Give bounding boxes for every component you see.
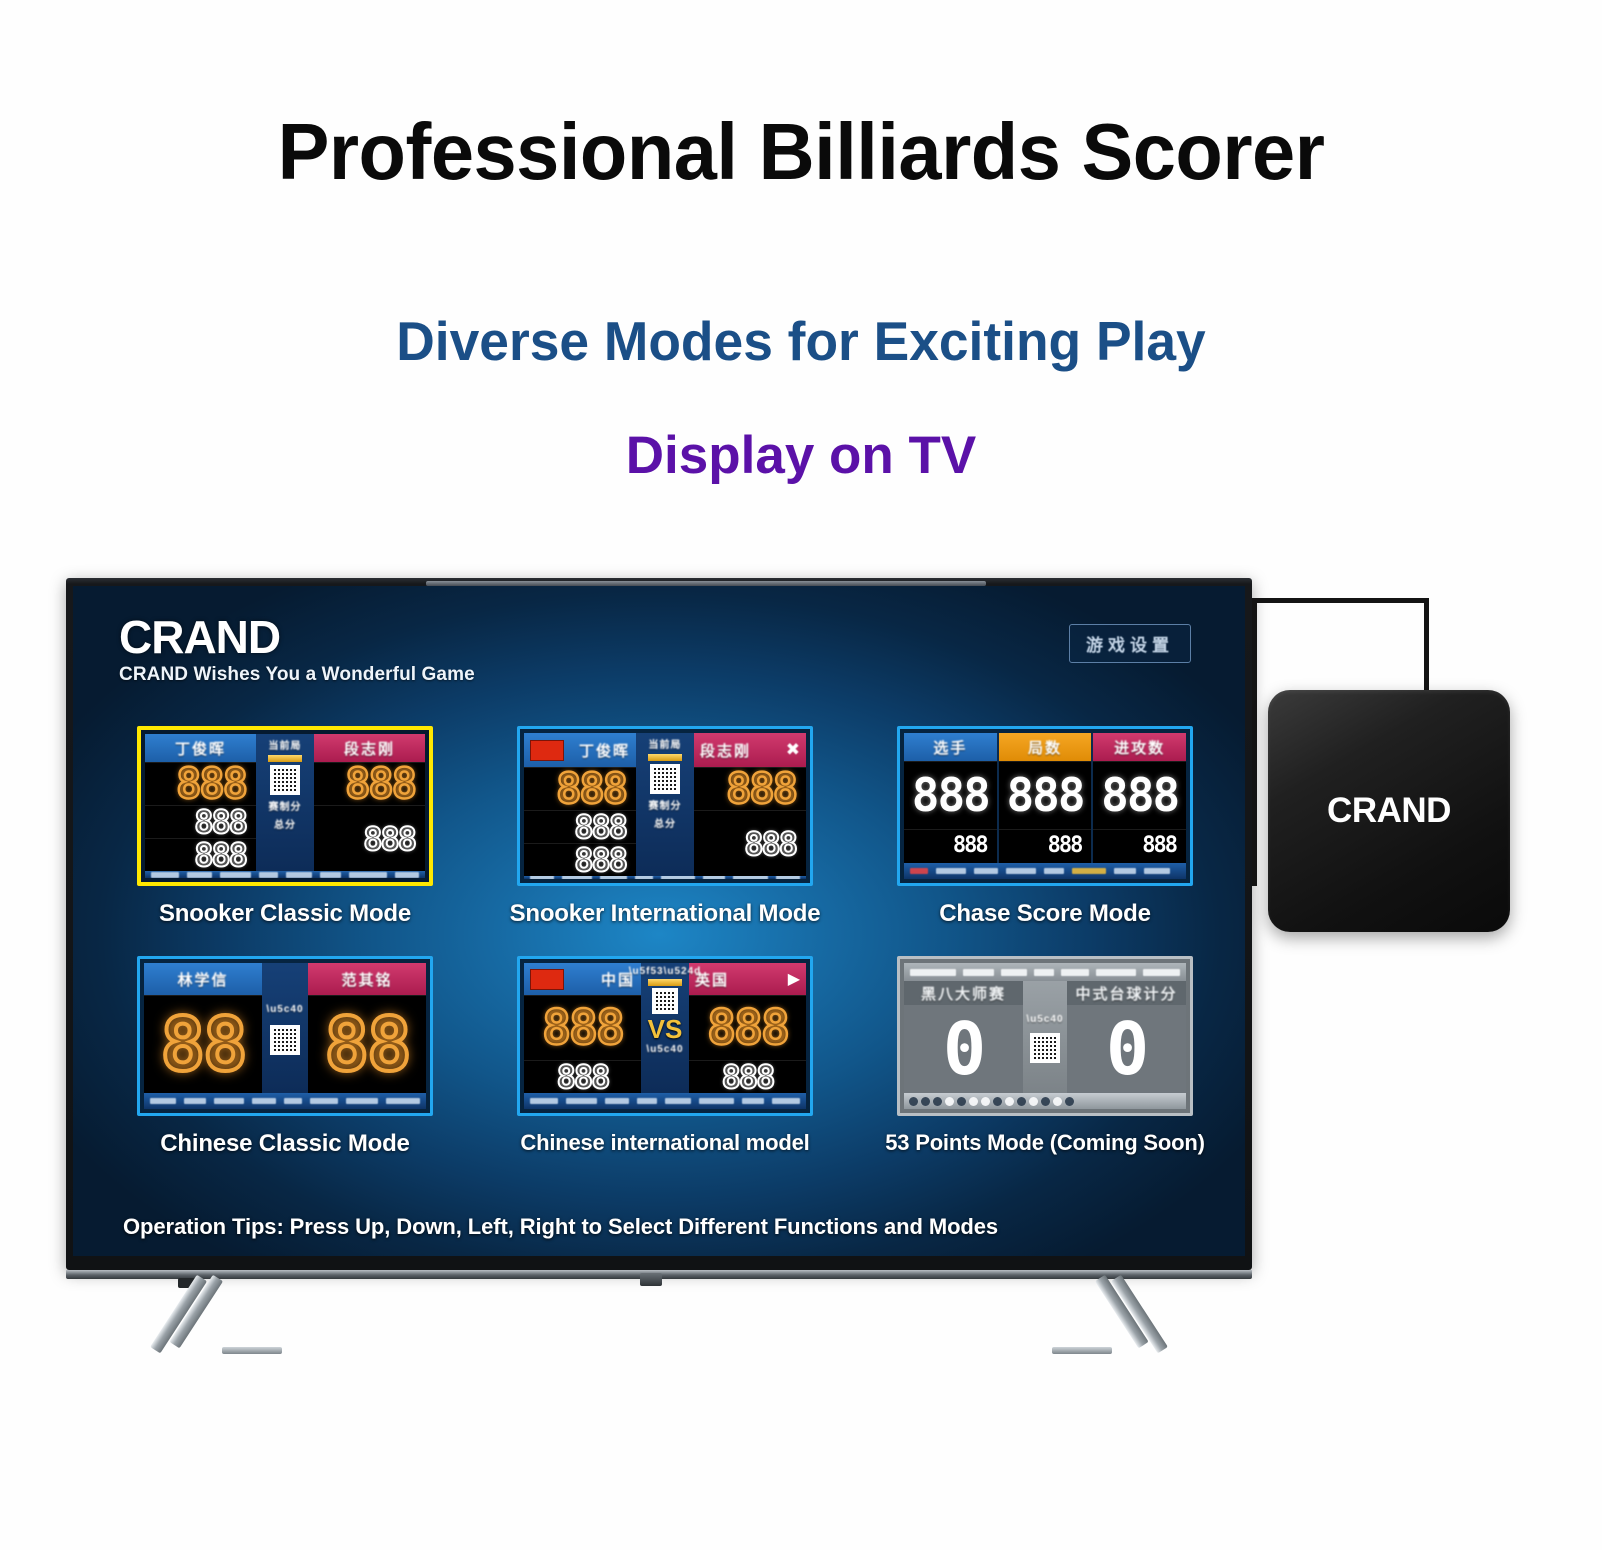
mode-cell-snooker-international[interactable]: 丁俊晖 888 888 888 当前局	[503, 726, 827, 928]
set-top-box-label: CRAND	[1327, 791, 1451, 831]
score-left-break: 888	[574, 811, 626, 843]
mode-cell-snooker-classic[interactable]: 丁俊晖 888 888 888 当前局 赛制分	[123, 726, 447, 928]
mode-grid: 丁俊晖 888 888 888 当前局 赛制分	[123, 726, 1207, 1158]
score-left: 0	[943, 1013, 984, 1085]
score-left: 88	[160, 1008, 245, 1082]
tv-leg-right	[1040, 1278, 1136, 1350]
panel-left: 黑八大师赛 0	[904, 981, 1023, 1093]
flag-icon	[530, 740, 564, 761]
chase-col3-big: 888	[1101, 772, 1178, 818]
center-label-bottom: \u5c40	[646, 1044, 683, 1055]
player-left-panel: 中国 888 888	[524, 963, 641, 1093]
settings-badge-label: 游戏设置	[1086, 636, 1174, 655]
player-left-name: 林学信	[177, 969, 228, 990]
score-left-total: 888	[574, 844, 626, 876]
score-right-total: 888	[744, 828, 796, 860]
qr-code-icon	[652, 988, 678, 1014]
mode-cell-chase-score[interactable]: 选手 888 888 局数 888 888 进攻	[883, 726, 1207, 928]
page-title: Professional Billiards Scorer	[24, 112, 1578, 192]
score-right: 0	[1106, 1013, 1147, 1085]
score-left-frame: 888	[176, 763, 246, 805]
player-left-name: 丁俊晖	[175, 738, 226, 759]
panel-right-title: 中式台球计分	[1075, 983, 1177, 1004]
center-info-column: \u5f53\u524d VS \u5c40	[641, 963, 689, 1093]
chase-col2-big: 888	[1006, 772, 1083, 818]
score-right: 88	[324, 1008, 409, 1082]
mode-label-53-points: 53 Points Mode (Coming Soon)	[885, 1130, 1205, 1156]
center-label-bottom: 总分	[274, 816, 296, 831]
mode-card-snooker-international[interactable]: 丁俊晖 888 888 888 当前局	[517, 726, 813, 886]
chase-col1-big: 888	[912, 772, 989, 818]
center-label-top: \u5c40	[266, 1004, 303, 1015]
ball-status-strip	[524, 1093, 806, 1109]
player-left-name: 丁俊晖	[579, 740, 630, 761]
screen-brand-block: CRAND CRAND Wishes You a Wonderful Game	[119, 614, 475, 686]
mode-card-53-points[interactable]: 黑八大师赛 0 \u5c40 中式台球计分 0	[897, 956, 1193, 1116]
tv-illustration: CRAND CRAND Wishes You a Wonderful Game …	[0, 578, 1602, 1378]
ball-status-strip	[904, 863, 1186, 879]
mode-label-chinese-international: Chinese international model	[520, 1130, 809, 1156]
center-info-column: \u5c40	[1023, 981, 1067, 1093]
chase-col3-small: 888	[1142, 835, 1176, 857]
play-triangle-icon: ▶	[788, 969, 800, 989]
tv-screen: CRAND CRAND Wishes You a Wonderful Game …	[73, 586, 1245, 1256]
score-left-small: 888	[557, 1061, 609, 1093]
score-left-break: 888	[194, 806, 246, 838]
gray-top-bar	[904, 963, 1186, 981]
qr-code-icon	[1030, 1033, 1060, 1063]
center-label-top: 当前局	[649, 736, 682, 751]
mode-card-chinese-international[interactable]: 中国 888 888 \u5f53\u524d VS	[517, 956, 813, 1116]
player-right-panel: 英国 ▶ 888 888	[689, 963, 806, 1093]
chase-col3-header: 进攻数	[1114, 737, 1165, 758]
center-info-column: 当前局 赛制分 总分	[256, 734, 314, 871]
gold-divider	[648, 754, 682, 761]
chase-col1-small: 888	[953, 835, 987, 857]
player-right-panel: 段志刚 888 888	[314, 734, 425, 871]
player-right-name: 段志刚	[700, 740, 751, 761]
player-right-name: 段志刚	[344, 738, 395, 759]
chase-col2-header: 局数	[1028, 737, 1062, 758]
mode-cell-53-points[interactable]: 黑八大师赛 0 \u5c40 中式台球计分 0	[883, 956, 1207, 1158]
center-info-column: 当前局 赛制分 总分	[636, 733, 694, 876]
chase-column-1: 选手 888 888	[904, 733, 997, 863]
operation-tips: Operation Tips: Press Up, Down, Left, Ri…	[123, 1214, 998, 1240]
panel-left-title: 黑八大师赛	[921, 983, 1006, 1004]
mode-label-chase-score: Chase Score Mode	[939, 900, 1151, 928]
player-left-panel: 林学信 88	[144, 963, 262, 1093]
score-right-frame: 888	[345, 763, 415, 805]
gold-divider	[648, 979, 682, 986]
mode-card-chinese-classic[interactable]: 林学信 88 \u5c40 范其铭 88	[137, 956, 433, 1116]
settings-badge[interactable]: 游戏设置	[1069, 624, 1191, 663]
mode-cell-chinese-classic[interactable]: 林学信 88 \u5c40 范其铭 88	[123, 956, 447, 1158]
brand-tagline: CRAND Wishes You a Wonderful Game	[119, 664, 475, 686]
center-info-column: \u5c40	[262, 963, 308, 1093]
chase-col2-small: 888	[1048, 835, 1082, 857]
center-label-top: \u5c40	[1026, 1014, 1063, 1025]
headings-block: Professional Billiards Scorer Diverse Mo…	[0, 0, 1602, 482]
hdmi-cable-segment-top	[1252, 598, 1429, 603]
score-right-big: 888	[707, 1004, 788, 1052]
score-right-frame: 888	[726, 768, 796, 810]
center-label-mid: 赛制分	[269, 798, 302, 813]
mode-cell-chinese-international[interactable]: 中国 888 888 \u5f53\u524d VS	[503, 956, 827, 1158]
set-top-box[interactable]: CRAND	[1268, 690, 1510, 932]
score-left-total: 888	[194, 839, 246, 871]
tv-frame: CRAND CRAND Wishes You a Wonderful Game …	[66, 578, 1252, 1270]
player-right-name: 范其铭	[341, 969, 392, 990]
score-left-frame: 888	[556, 768, 626, 810]
crossed-cues-icon: ✖	[786, 740, 800, 760]
score-right-total: 888	[363, 823, 415, 855]
chase-col1-header: 选手	[933, 737, 967, 758]
page-subtitle: Diverse Modes for Exciting Play	[24, 314, 1578, 369]
tv-ir-sensor	[640, 1273, 662, 1286]
crand-logo: CRAND	[119, 614, 475, 660]
qr-code-icon	[270, 1025, 300, 1055]
player-right-name: 英国	[695, 969, 729, 990]
ball-status-strip	[524, 876, 806, 879]
center-label-mid: 赛制分	[649, 797, 682, 812]
player-left-panel: 丁俊晖 888 888 888	[524, 733, 636, 876]
center-label-top: \u5f53\u524d	[629, 966, 702, 977]
qr-code-icon	[270, 765, 300, 795]
mode-card-chase-score[interactable]: 选手 888 888 局数 888 888 进攻	[897, 726, 1193, 886]
tv-leg-left	[196, 1278, 292, 1350]
mode-label-snooker-classic: Snooker Classic Mode	[159, 900, 411, 928]
score-right-small: 888	[722, 1061, 774, 1093]
page-tertiary-title: Display on TV	[0, 429, 1602, 482]
panel-right: 中式台球计分 0	[1067, 981, 1186, 1093]
vs-label: VS	[648, 1016, 683, 1042]
qr-code-icon	[650, 764, 680, 794]
player-right-panel: 范其铭 88	[308, 963, 426, 1093]
mode-label-chinese-classic: Chinese Classic Mode	[160, 1130, 409, 1158]
ball-status-strip	[144, 1093, 426, 1109]
chase-column-3: 进攻数 888 888	[1093, 733, 1186, 863]
score-left-big: 888	[542, 1004, 623, 1052]
gold-divider	[268, 755, 302, 762]
chase-column-2: 局数 888 888	[997, 733, 1094, 863]
hdmi-cable-segment-left	[1252, 598, 1257, 886]
ball-status-strip	[145, 871, 425, 878]
center-label-bottom: 总分	[654, 815, 676, 830]
mode-card-snooker-classic[interactable]: 丁俊晖 888 888 888 当前局 赛制分	[137, 726, 433, 886]
flag-icon	[530, 969, 564, 990]
player-right-panel: 段志刚 ✖ 888 888	[694, 733, 806, 876]
mode-label-snooker-international: Snooker International Mode	[510, 900, 821, 928]
player-left-panel: 丁俊晖 888 888 888	[145, 734, 256, 871]
center-label-top: 当前局	[269, 737, 302, 752]
ball-indicator-strip	[904, 1093, 1186, 1109]
